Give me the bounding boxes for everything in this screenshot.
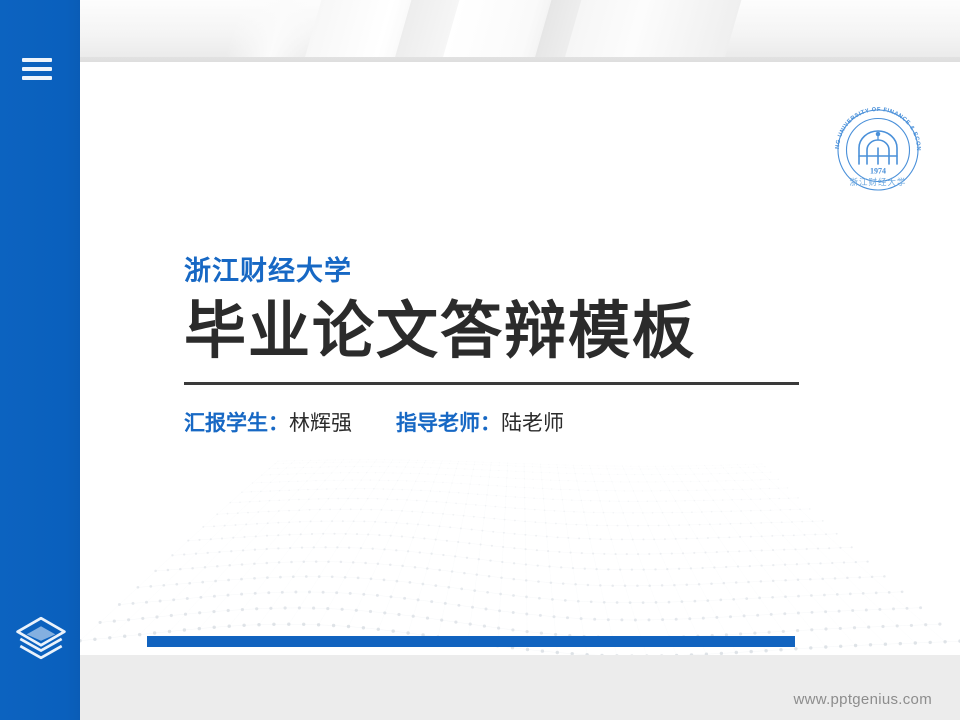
byline: 汇报学生：林辉强指导老师：陆老师 <box>184 411 884 436</box>
banner-ribbon-6 <box>550 0 750 64</box>
presenter-label: 汇报学生： <box>184 412 289 435</box>
hamburger-menu-icon[interactable] <box>22 56 58 82</box>
university-seal-icon: ZHEJIANG UNIVERSITY OF FINANCE & ECONOMI… <box>828 100 928 200</box>
left-sidebar <box>0 0 80 720</box>
emblem-arc-text: ZHEJIANG UNIVERSITY OF FINANCE & ECONOMI… <box>828 100 921 151</box>
banner-ribbon-2 <box>290 0 450 64</box>
hamburger-bar-3 <box>22 76 52 80</box>
watermark-url: www.pptgenius.com <box>794 691 933 708</box>
emblem-chinese-name: 浙江财经大学 <box>849 177 906 188</box>
bottom-accent-bar <box>147 636 795 647</box>
dot-mesh-wave-decoration <box>80 445 960 655</box>
page-title: 毕业论文答辩模板 <box>184 297 884 366</box>
slide-surface: ZHEJIANG UNIVERSITY OF FINANCE & ECONOMI… <box>80 62 960 655</box>
top-decorative-banner <box>0 0 960 64</box>
advisor-label: 指导老师： <box>396 412 501 435</box>
title-text-block: 浙江财经大学 毕业论文答辩模板 汇报学生：林辉强指导老师：陆老师 <box>184 257 884 436</box>
banner-ribbon-3 <box>380 0 480 64</box>
advisor-name: 陆老师 <box>501 412 564 435</box>
banner-ribbon-5 <box>520 0 600 64</box>
title-divider-rule <box>184 382 799 385</box>
university-name: 浙江财经大学 <box>184 257 884 287</box>
hamburger-bar-1 <box>22 58 52 62</box>
stacked-layers-icon[interactable] <box>14 614 68 662</box>
svg-text:ZHEJIANG UNIVERSITY OF FINANCE: ZHEJIANG UNIVERSITY OF FINANCE & ECONOMI… <box>828 100 921 151</box>
banner-ribbon-4 <box>428 0 578 64</box>
banner-ribbon-1 <box>210 0 340 64</box>
slide-stage: ZHEJIANG UNIVERSITY OF FINANCE & ECONOMI… <box>0 0 960 720</box>
presenter-name: 林辉强 <box>289 412 352 435</box>
hamburger-bar-2 <box>22 67 52 71</box>
emblem-year: 1974 <box>870 167 886 176</box>
